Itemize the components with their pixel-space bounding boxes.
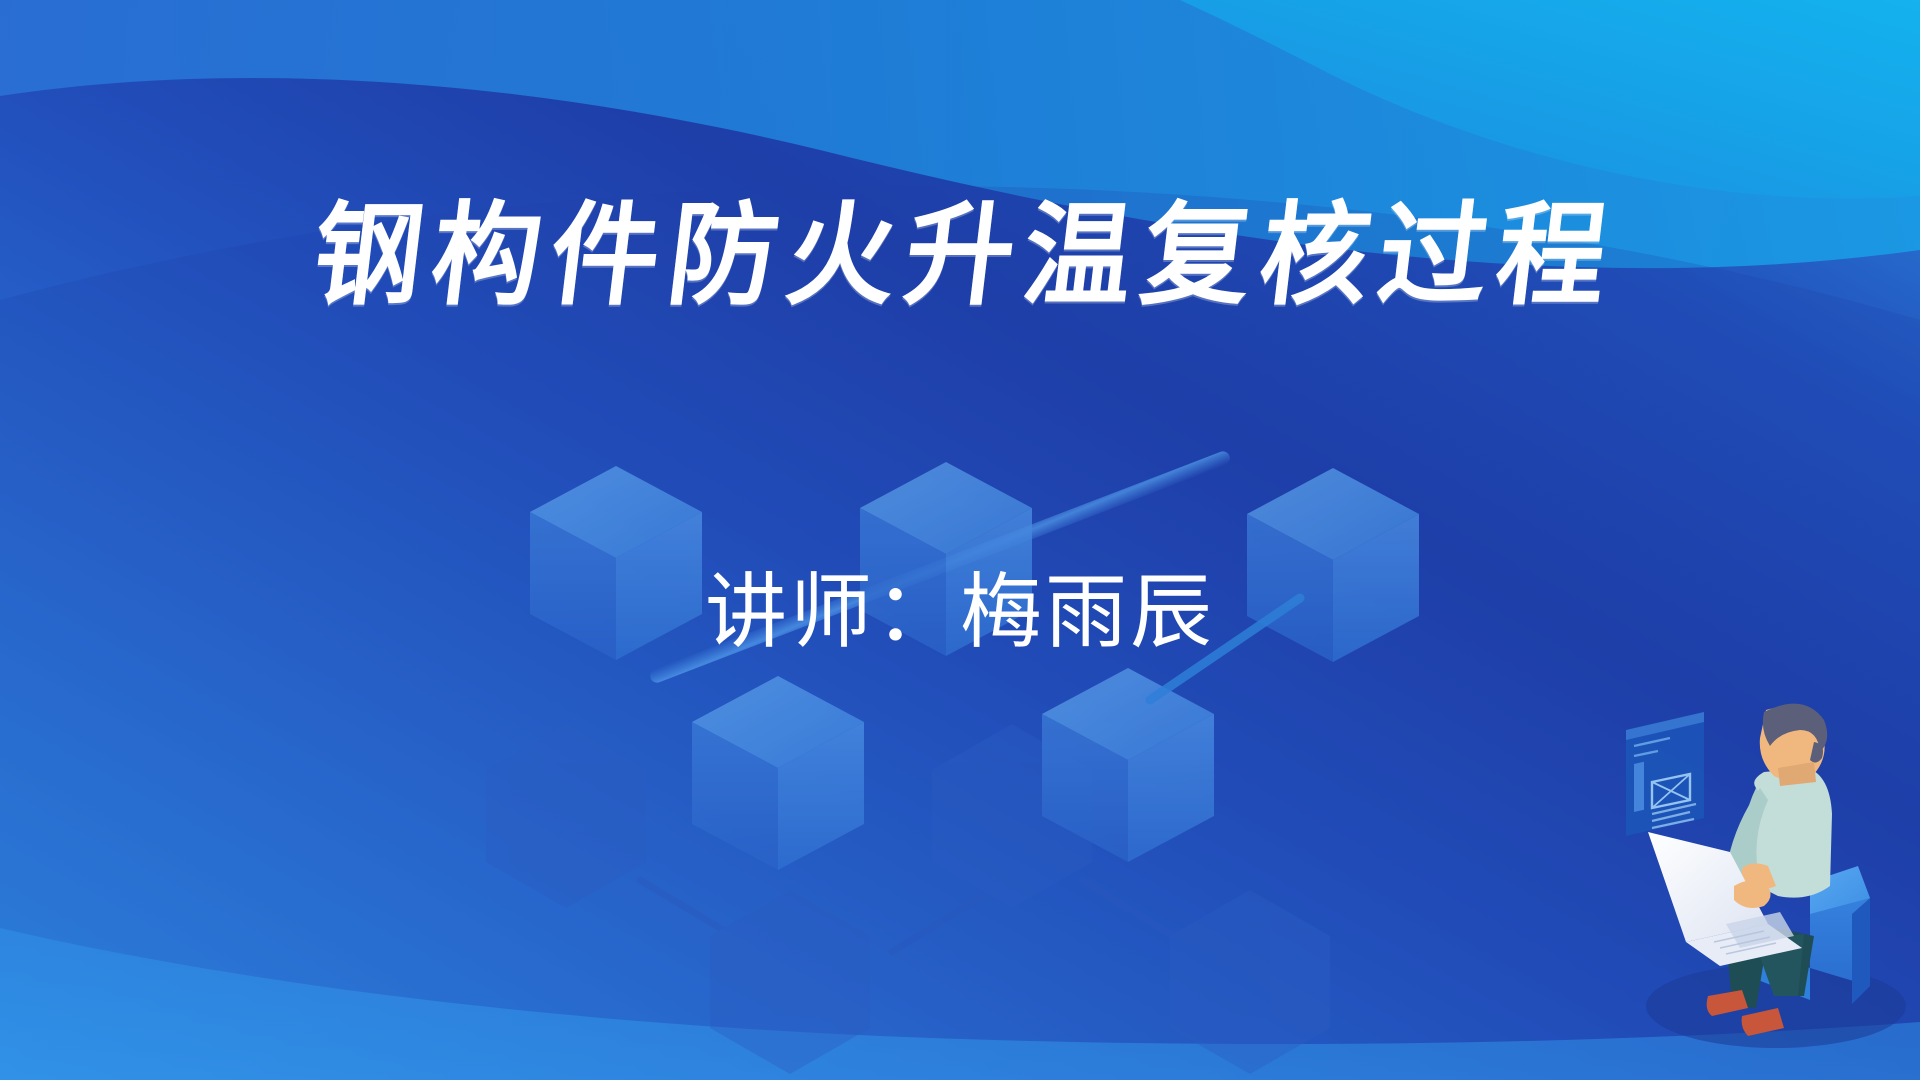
floating-browser-panel <box>1626 712 1704 836</box>
person-working-illustration <box>1608 690 1920 1060</box>
panel-sidebar <box>1634 762 1644 812</box>
title-text: 钢构件防火升温复核过程 <box>297 196 1623 317</box>
person-hand <box>1734 880 1771 908</box>
subtitle-text: 讲师：梅雨辰 <box>705 568 1215 658</box>
subtitle: 讲师：梅雨辰 <box>0 568 1920 658</box>
page-title: 钢构件防火升温复核过程 <box>0 196 1920 317</box>
title-slide: 钢构件防火升温复核过程 讲师：梅雨辰 <box>0 0 1920 1080</box>
